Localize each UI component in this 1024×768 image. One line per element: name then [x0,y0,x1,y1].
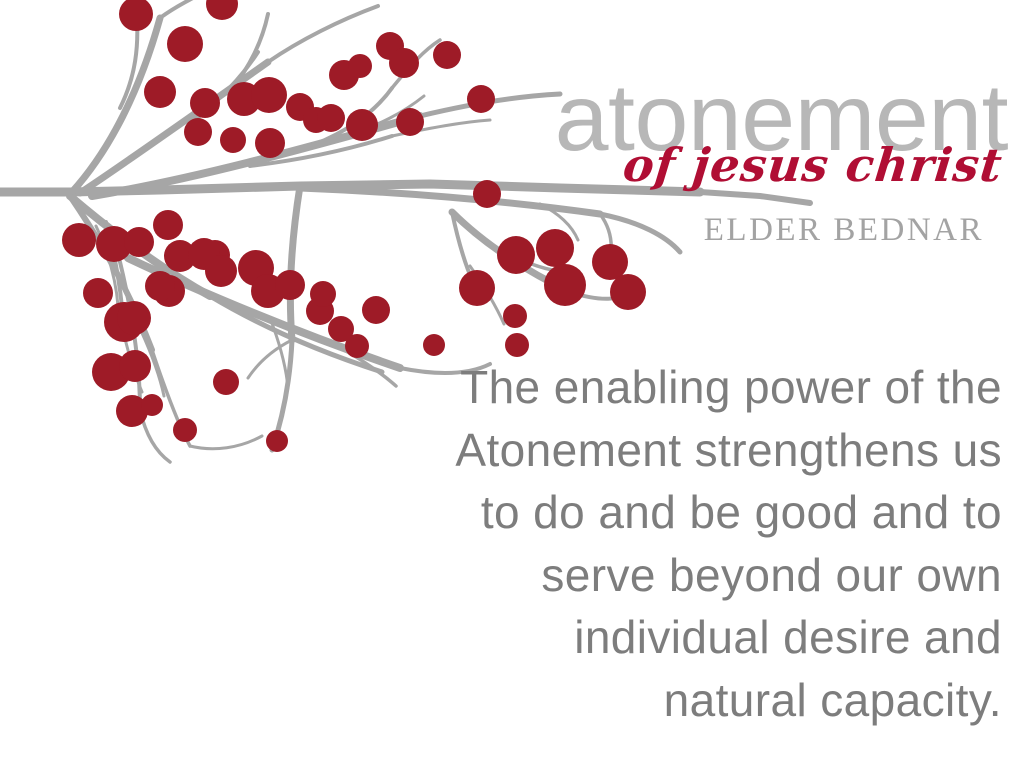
author-name: ELDER BEDNAR [704,212,984,249]
subtitle-script: of jesus christ [621,142,1005,188]
quote-line: Atonement strengthens us [342,419,1002,482]
headline-block: atonement of jesus christ ELDER BEDNAR [388,74,1008,163]
quote-line: individual desire and [342,606,1002,669]
quote-line: to do and be good and to [342,481,1002,544]
quote-text: The enabling power of the Atonement stre… [342,356,1002,731]
quote-line: serve beyond our own [342,544,1002,607]
quote-line: natural capacity. [342,669,1002,732]
quote-line: The enabling power of the [342,356,1002,419]
poster-canvas: atonement of jesus christ ELDER BEDNAR T… [0,0,1024,768]
